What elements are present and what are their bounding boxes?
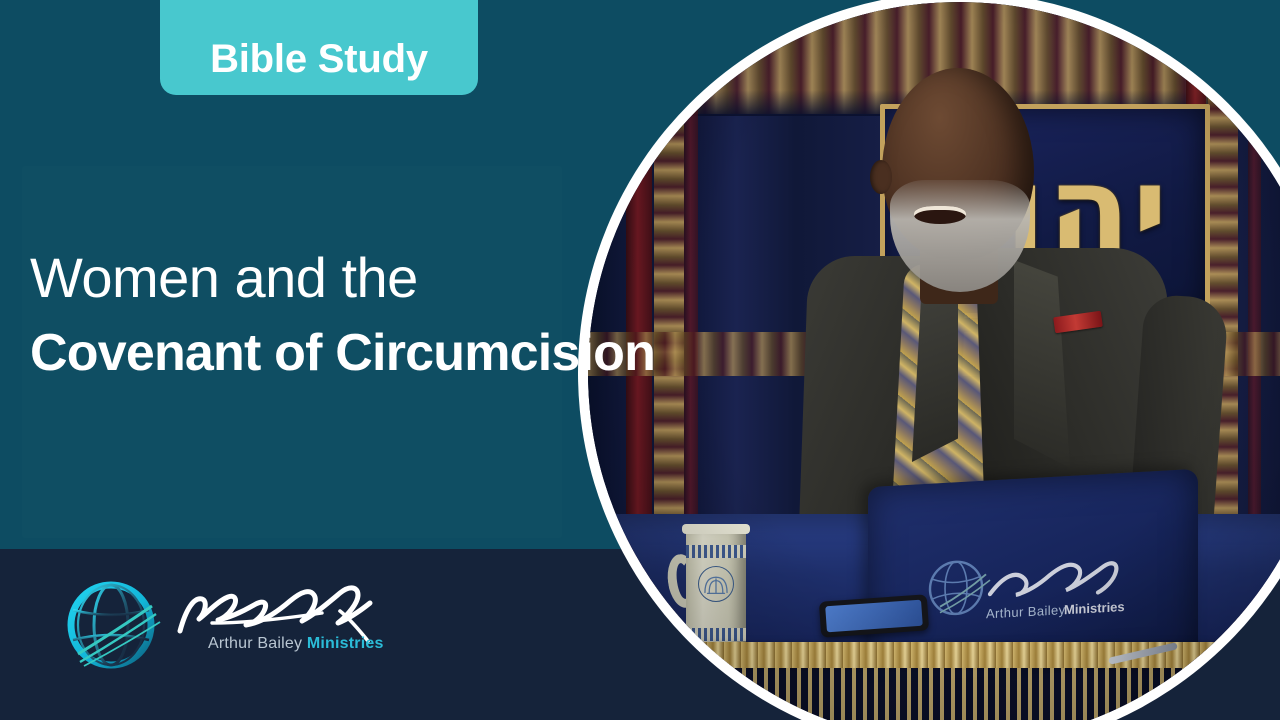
stein-band [686, 545, 746, 558]
category-badge[interactable]: Bible Study [160, 0, 478, 95]
brand-signature: Arthur Bailey Ministries [172, 577, 384, 673]
brand-logo: Arthur Bailey Ministries [56, 560, 386, 690]
table-fringe-trim [588, 668, 1280, 720]
title-line-1: Women and the [30, 246, 590, 311]
svg-text:Ministries: Ministries [1064, 599, 1125, 617]
speaker-smile [914, 206, 966, 224]
thumbnail-canvas: יהוה [0, 0, 1280, 720]
category-badge-label: Bible Study [210, 39, 428, 79]
svg-text:Arthur Bailey: Arthur Bailey [986, 602, 1066, 621]
podium-emblem-icon: Arthur Bailey Ministries [920, 544, 1140, 640]
menorah-icon [698, 566, 734, 602]
speaker-photo-circle: יהוה [588, 2, 1280, 720]
smartphone-prop [819, 594, 929, 637]
speaker-ear [870, 160, 892, 194]
title-block: Women and the Covenant of Circumcision [30, 246, 590, 384]
brand-name: Arthur Bailey [208, 635, 302, 652]
globe-icon [56, 570, 166, 680]
stein-band [686, 628, 746, 641]
brand-wordmark: Arthur Bailey Ministries [208, 635, 384, 653]
stein-rim [682, 524, 750, 534]
brand-suffix: Ministries [307, 635, 384, 652]
title-line-2: Covenant of Circumcision [30, 323, 590, 384]
